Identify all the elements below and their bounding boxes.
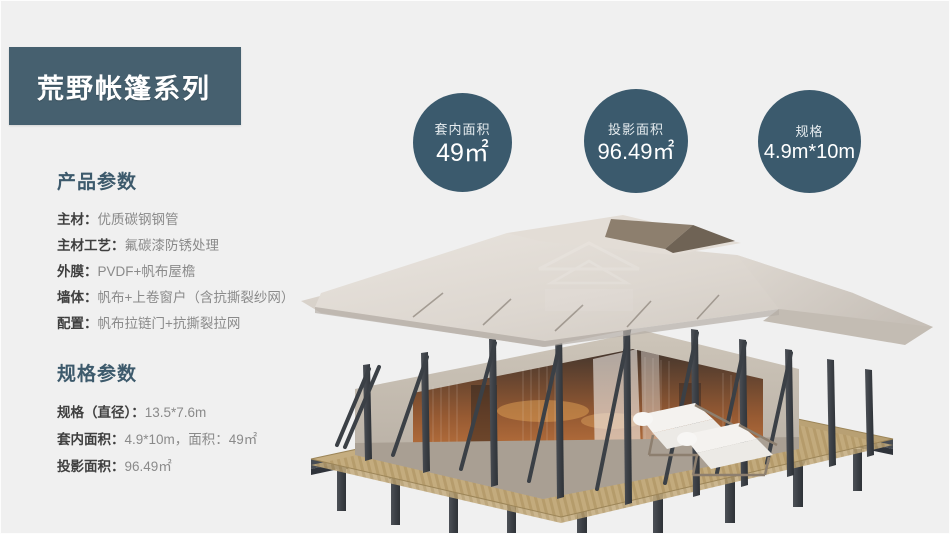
param-key: 投影面积： bbox=[57, 459, 125, 474]
param-value: 帆布+上卷窗户（含抗撕裂纱网） bbox=[98, 290, 295, 305]
stat-badge-value: 96.49㎡ bbox=[597, 140, 674, 163]
stat-badge-label: 规格 bbox=[795, 121, 823, 140]
stat-badge-value: 49㎡ bbox=[436, 140, 489, 166]
param-value: 4.9*10m，面积：49㎡ bbox=[125, 432, 258, 447]
section-heading-product: 产品参数 bbox=[57, 167, 294, 194]
stat-badge-label: 套内面积 bbox=[434, 119, 490, 138]
spec-parameters-section: 规格参数 规格（直径）：13.5*7.6m 套内面积：4.9*10m，面积：49… bbox=[57, 359, 257, 480]
param-row: 外膜：PVDF+帆布屋檐 bbox=[57, 259, 294, 285]
param-row: 主材：优质碳钢钢管 bbox=[57, 207, 294, 233]
param-key: 主材工艺： bbox=[57, 238, 125, 253]
stat-badge-value: 4.9m*10m bbox=[764, 142, 855, 163]
title-banner: 荒野帐篷系列 bbox=[9, 47, 241, 125]
param-value: 氟碳漆防锈处理 bbox=[125, 238, 220, 253]
param-key: 主材： bbox=[57, 212, 98, 227]
param-row: 投影面积：96.49㎡ bbox=[57, 453, 257, 480]
param-row: 套内面积：4.9*10m，面积：49㎡ bbox=[57, 426, 257, 453]
slide-root: 荒野帐篷系列 产品参数 主材：优质碳钢钢管 主材工艺：氟碳漆防锈处理 外膜：PV… bbox=[0, 0, 950, 534]
param-key: 墙体： bbox=[57, 290, 98, 305]
stat-badge-label: 投影面积 bbox=[608, 119, 664, 138]
param-row: 墙体：帆布+上卷窗户（含抗撕裂纱网） bbox=[57, 285, 294, 311]
param-value: 13.5*7.6m bbox=[145, 405, 207, 420]
param-row: 配置：帆布拉链门+抗撕裂拉网 bbox=[57, 311, 294, 337]
param-value: 优质碳钢钢管 bbox=[98, 212, 179, 227]
param-key: 配置： bbox=[57, 316, 98, 331]
param-row: 主材工艺：氟碳漆防锈处理 bbox=[57, 233, 294, 259]
stat-badge-interior-area: 套内面积 49㎡ bbox=[413, 93, 512, 192]
param-key: 规格（直径）： bbox=[57, 405, 145, 420]
param-row: 规格（直径）：13.5*7.6m bbox=[57, 399, 257, 426]
stat-badge-projected-area: 投影面积 96.49㎡ bbox=[584, 89, 688, 193]
product-parameters-section: 产品参数 主材：优质碳钢钢管 主材工艺：氟碳漆防锈处理 外膜：PVDF+帆布屋檐… bbox=[57, 167, 294, 337]
stat-badge-dimensions: 规格 4.9m*10m bbox=[758, 90, 861, 193]
tent-render-illustration bbox=[293, 197, 950, 534]
param-value: 帆布拉链门+抗撕裂拉网 bbox=[98, 316, 241, 331]
page-title: 荒野帐篷系列 bbox=[9, 67, 211, 106]
param-value: 96.49㎡ bbox=[125, 459, 172, 474]
param-value: PVDF+帆布屋檐 bbox=[98, 264, 196, 279]
param-key: 套内面积： bbox=[57, 432, 125, 447]
tent-3d-render bbox=[293, 197, 950, 534]
section-heading-spec: 规格参数 bbox=[57, 359, 257, 386]
param-key: 外膜： bbox=[57, 264, 98, 279]
